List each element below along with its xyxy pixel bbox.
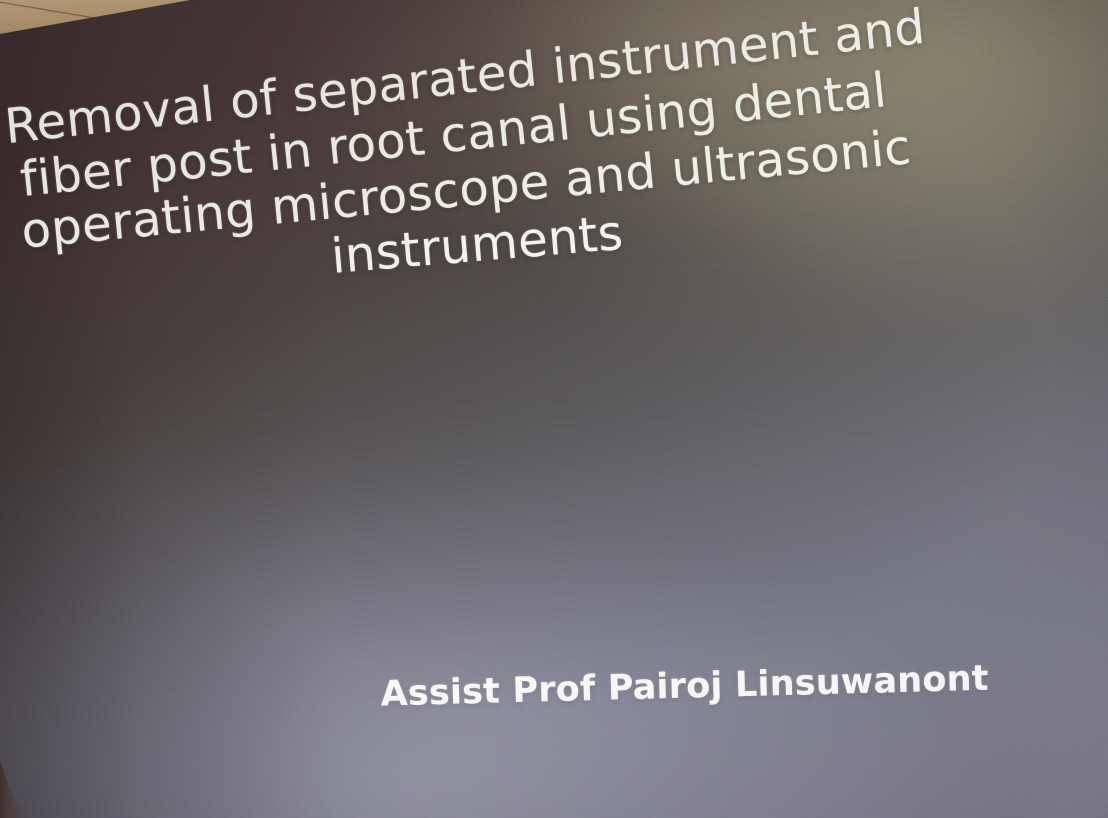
slide-title: Removal of separated instrument and fibe… — [0, 0, 1069, 321]
slide-content: Removal of separated instrument and fibe… — [0, 0, 1108, 818]
slide-author: Assist Prof Pairoj Linsuwanont — [0, 656, 1083, 725]
projected-slide-photo: Removal of separated instrument and fibe… — [0, 0, 1108, 818]
projection-screen: Removal of separated instrument and fibe… — [0, 0, 1108, 818]
